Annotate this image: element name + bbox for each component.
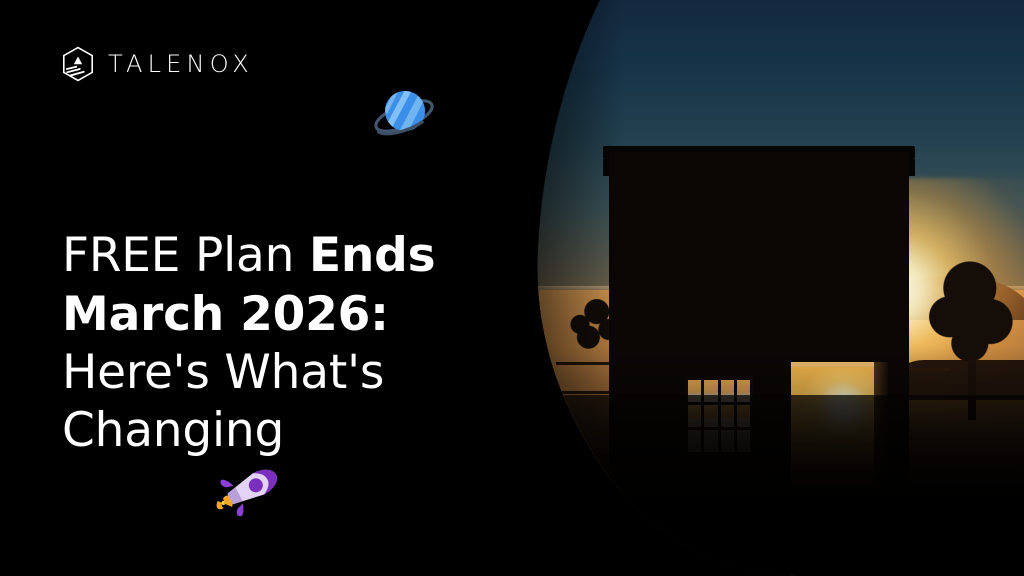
headline-part-regular-2: Here's What's Changing <box>62 345 384 458</box>
logo-wordmark: TALENOX <box>108 50 254 78</box>
sunset-doorway-photo <box>504 0 1024 576</box>
talenox-logo[interactable]: TALENOX <box>61 46 254 82</box>
blog-header-banner: TALENOX FREE Plan Ends March 2026: Here'… <box>0 0 1024 576</box>
page-title: FREE Plan Ends March 2026: Here's What's… <box>62 227 532 460</box>
rocket-icon <box>210 464 284 516</box>
headline-part-regular-1: FREE Plan <box>62 228 309 283</box>
talenox-hexagon-logo-icon <box>61 46 95 82</box>
foreground-shadow <box>504 395 1024 576</box>
ringed-planet-icon <box>372 84 436 144</box>
